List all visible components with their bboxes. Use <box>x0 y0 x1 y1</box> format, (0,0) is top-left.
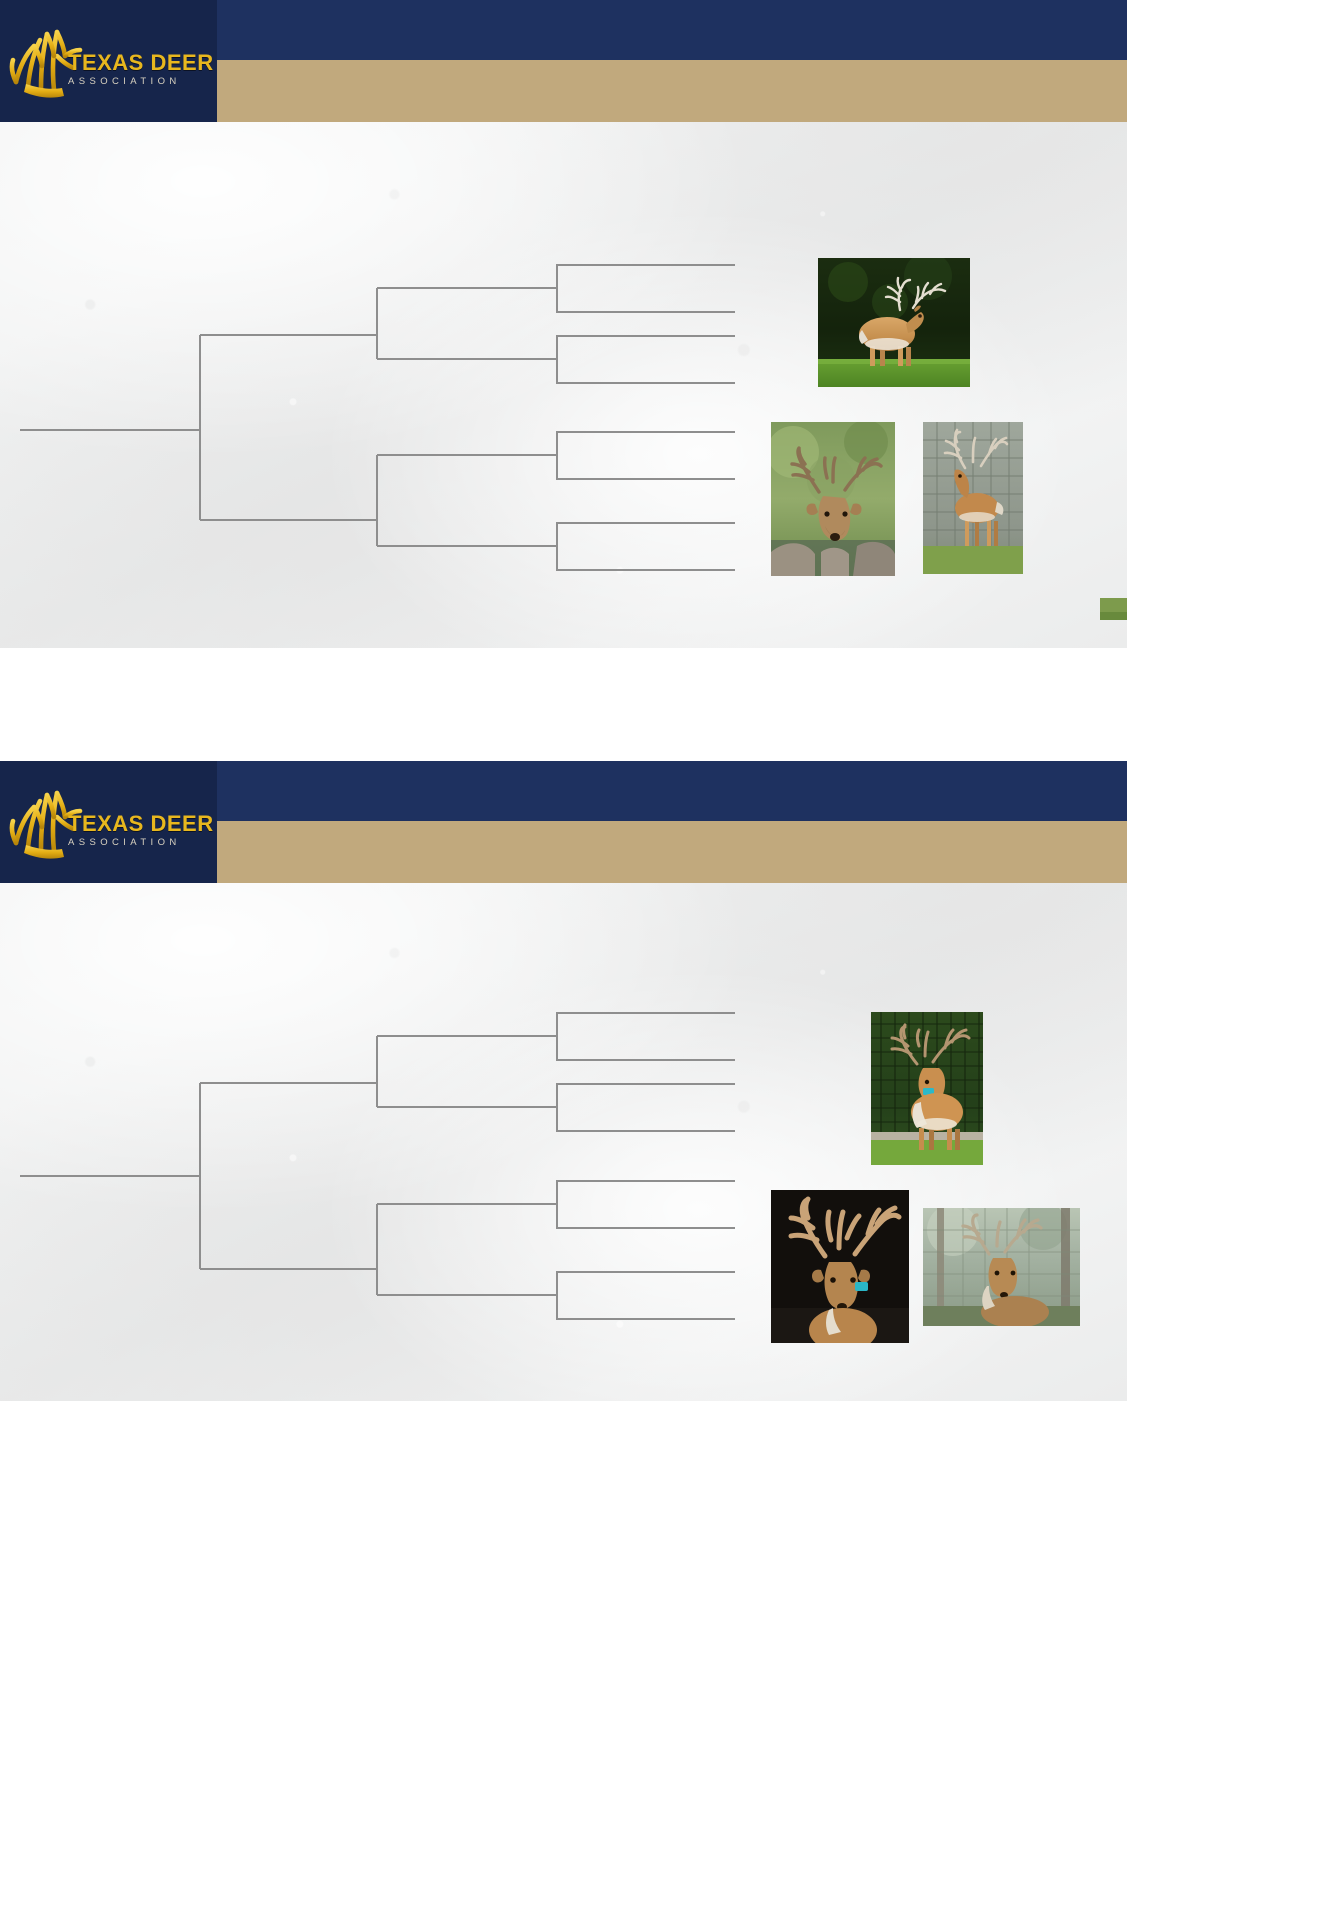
pedigree-gen4-box-2 <box>557 1084 735 1131</box>
pedigree-sheet-1: TEXAS DEER ASSOCIATION <box>0 0 1127 648</box>
pedigree-sheet-2: TEXAS DEER ASSOCIATION <box>0 761 1127 1401</box>
pedigree-gen4-box-1 <box>557 265 735 312</box>
pedigree-gen4-box-4 <box>557 1272 735 1319</box>
pedigree-gen4-box-3 <box>557 1181 735 1228</box>
deer-photo-top[interactable] <box>818 258 970 387</box>
pedigree-gen4-box-1 <box>557 1013 735 1060</box>
pedigree-gen4-box-4 <box>557 523 735 570</box>
page-right-margin <box>1127 0 1338 1731</box>
deer-photo-left[interactable] <box>771 1190 909 1343</box>
deer-photo-top[interactable] <box>871 1773 983 1926</box>
deer-photo-left[interactable] <box>771 422 895 576</box>
deer-photo-right[interactable] <box>923 1208 1080 1326</box>
pedigree-gen4-box-3 <box>557 432 735 479</box>
deer-photo-fragment <box>1100 598 1127 620</box>
deer-photo-top[interactable] <box>871 1012 983 1165</box>
pedigree-gen4-box-2 <box>557 336 735 383</box>
deer-photo-right[interactable] <box>923 422 1023 574</box>
